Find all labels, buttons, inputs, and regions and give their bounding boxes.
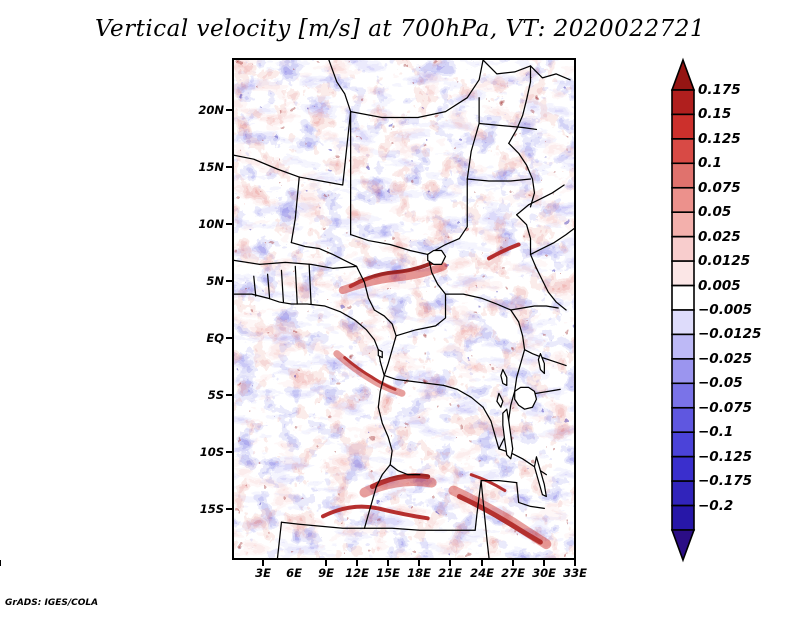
cbar-label-0-025: 0.025 <box>698 229 741 245</box>
xtick-label-3e: 3E <box>255 566 271 580</box>
ytick-mark-20n <box>226 109 233 111</box>
ytick-label-20n: 20N <box>198 103 224 117</box>
y-axis: 20N 15N 10N 5N EQ 5S 10S 15S <box>180 0 224 618</box>
cbar-label-0-075: 0.075 <box>698 180 741 196</box>
ytick-mark-eq <box>226 337 233 339</box>
ytick-mark-15n <box>226 166 233 168</box>
cbar-label-neg-0-1: −0.1 <box>698 424 733 440</box>
cbar-label-0-175: 0.175 <box>698 82 741 98</box>
ytick-mark-10n <box>226 223 233 225</box>
cbar-label-neg-0-2: −0.2 <box>698 498 733 514</box>
xtick-mark-6e <box>0 560 1 566</box>
ytick-label-10n: 10N <box>198 217 224 231</box>
cbar-label-0-15: 0.15 <box>698 106 731 122</box>
ytick-mark-5s <box>226 394 233 396</box>
cbar-label-0-005: 0.005 <box>698 278 741 294</box>
ytick-mark-15s <box>226 508 233 510</box>
cbar-label-neg-0-075: −0.075 <box>698 400 752 416</box>
colorbar-swatches <box>672 60 694 560</box>
page-title: Vertical velocity [m/s] at 700hPa, VT: 2… <box>0 16 800 42</box>
ytick-label-5n: 5N <box>206 274 224 288</box>
cbar-label-neg-0-005: −0.005 <box>698 302 752 318</box>
xtick-label-21e: 21E <box>438 566 462 580</box>
xtick-label-15e: 15E <box>376 566 400 580</box>
xtick-label-24e: 24E <box>470 566 494 580</box>
ytick-label-10s: 10S <box>200 445 224 459</box>
cbar-label-neg-0-125: −0.125 <box>698 449 752 465</box>
cbar-label-0-0125: 0.0125 <box>698 253 750 269</box>
cbar-label-0-05: 0.05 <box>698 204 731 220</box>
ytick-label-eq: EQ <box>206 331 224 345</box>
cbar-label-0-1: 0.1 <box>698 155 722 171</box>
xtick-label-30e: 30E <box>532 566 556 580</box>
map-plot-area[interactable] <box>232 58 576 560</box>
ytick-label-5s: 5S <box>208 388 224 402</box>
xtick-label-18e: 18E <box>407 566 431 580</box>
xtick-label-27e: 27E <box>501 566 525 580</box>
cbar-label-neg-0-025: −0.025 <box>698 351 752 367</box>
colorbar[interactable] <box>672 60 694 560</box>
country-borders-overlay <box>234 60 574 558</box>
xtick-label-9e: 9E <box>318 566 334 580</box>
cbar-label-neg-0-0125: −0.0125 <box>698 326 761 342</box>
grads-credit: GrADS: IGES/COLA <box>5 598 98 608</box>
ytick-mark-5n <box>226 280 233 282</box>
ytick-mark-10s <box>226 451 233 453</box>
ytick-label-15s: 15S <box>200 502 224 516</box>
xtick-label-12e: 12E <box>345 566 369 580</box>
ytick-label-15n: 15N <box>198 160 224 174</box>
cbar-label-0-125: 0.125 <box>698 131 741 147</box>
cbar-label-neg-0-05: −0.05 <box>698 375 743 391</box>
xtick-label-33e: 33E <box>563 566 587 580</box>
cbar-label-neg-0-175: −0.175 <box>698 473 752 489</box>
xtick-label-6e: 6E <box>286 566 302 580</box>
